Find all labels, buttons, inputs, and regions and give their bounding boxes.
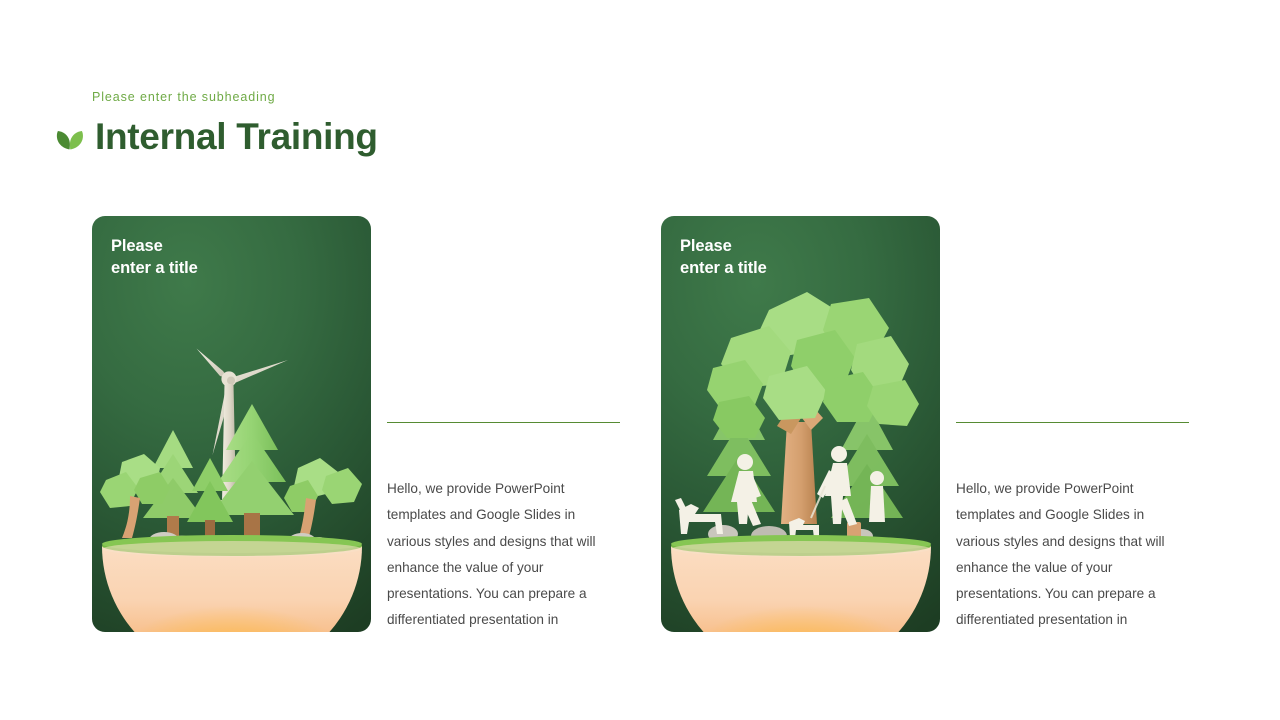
feature-text-column-1: Hello, we provide PowerPoint templates a…	[387, 216, 621, 632]
feature-text-column-2: Hello, we provide PowerPoint templates a…	[956, 216, 1190, 632]
slide-canvas: Please enter the subheading Internal Tra…	[0, 0, 1280, 720]
feature-card-1[interactable]: Please enter a title	[92, 216, 371, 632]
page-title: Internal Training	[95, 118, 378, 155]
leaf-icon	[55, 122, 85, 152]
wind-turbine-forest-hemisphere-illustration	[92, 272, 371, 632]
section-divider-1	[387, 422, 620, 423]
slide-subheading: Please enter the subheading	[92, 90, 275, 104]
section-divider-2	[956, 422, 1189, 423]
feature-body-2: Hello, we provide PowerPoint templates a…	[956, 476, 1190, 632]
feature-body-1: Hello, we provide PowerPoint templates a…	[387, 476, 621, 632]
feature-card-2[interactable]: Please enter a title	[661, 216, 940, 632]
slide-title-row: Internal Training	[55, 118, 378, 155]
card-title-1: Please enter a title	[111, 235, 198, 280]
card-title-2: Please enter a title	[680, 235, 767, 280]
tree-people-dogs-hemisphere-illustration	[661, 272, 940, 632]
